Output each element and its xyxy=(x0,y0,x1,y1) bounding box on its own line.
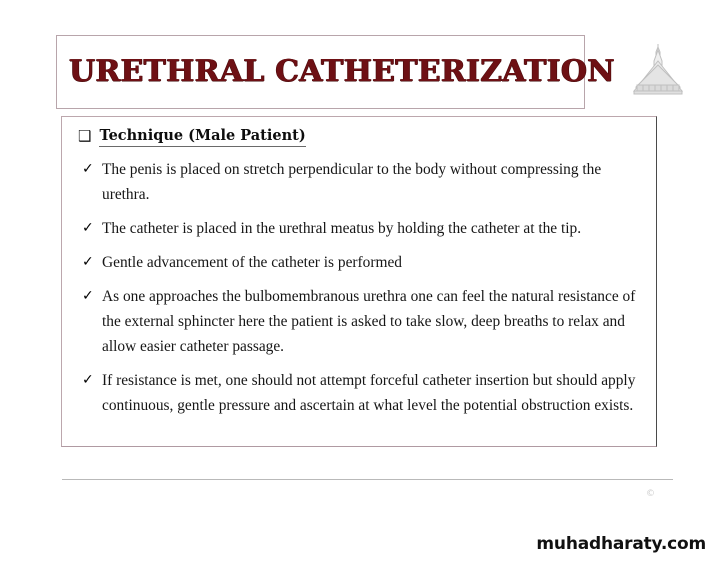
list-item-text: If resistance is met, one should not att… xyxy=(102,368,646,418)
section-heading-row: ❑ Technique (Male Patient) xyxy=(78,127,646,147)
check-mark-icon: ✓ xyxy=(82,157,102,182)
page-title: Urethral Catheterization xyxy=(57,57,615,87)
list-item: ✓ If resistance is met, one should not a… xyxy=(82,368,646,418)
list-item: ✓ The penis is placed on stretch perpend… xyxy=(82,157,646,207)
list-item: ✓ The catheter is placed in the urethral… xyxy=(82,216,646,241)
list-item-text: As one approaches the bulbomembranous ur… xyxy=(102,284,646,359)
check-mark-icon: ✓ xyxy=(82,368,102,393)
hollow-square-bullet-icon: ❑ xyxy=(78,127,91,145)
footer-divider xyxy=(62,479,673,480)
list-item-text: The catheter is placed in the urethral m… xyxy=(102,216,581,241)
institution-monument-logo-icon xyxy=(629,41,687,99)
check-mark-icon: ✓ xyxy=(82,250,102,275)
section-heading-label: Technique (Male Patient) xyxy=(99,127,305,147)
list-item: ✓ Gentle advancement of the catheter is … xyxy=(82,250,646,275)
copyright-mark: © xyxy=(646,489,655,499)
check-mark-icon: ✓ xyxy=(82,284,102,309)
site-watermark: muhadharaty.com xyxy=(536,534,706,554)
slide-title-box: Urethral Catheterization xyxy=(56,35,585,109)
check-mark-icon: ✓ xyxy=(82,216,102,241)
content-box: ❑ Technique (Male Patient) ✓ The penis i… xyxy=(61,116,657,447)
list-item-text: Gentle advancement of the catheter is pe… xyxy=(102,250,402,275)
list-item-text: The penis is placed on stretch perpendic… xyxy=(102,157,646,207)
technique-bullet-list: ✓ The penis is placed on stretch perpend… xyxy=(70,157,646,418)
list-item: ✓ As one approaches the bulbomembranous … xyxy=(82,284,646,359)
slide-canvas: Urethral Catheterization ❑ xyxy=(0,0,728,563)
